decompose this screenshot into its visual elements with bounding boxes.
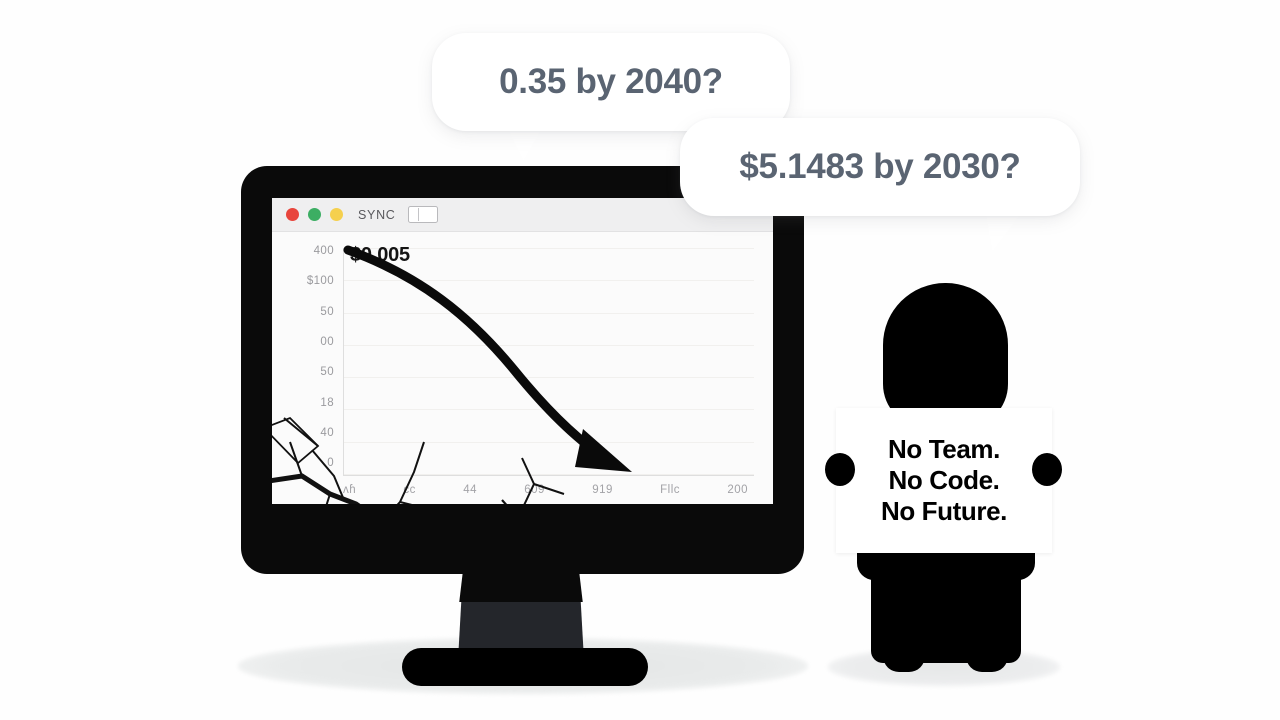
chart-y-axis: 400 $100 50 00 50 18 40 0 (278, 246, 334, 470)
maximize-icon[interactable] (330, 208, 343, 221)
y-tick: 50 (278, 307, 334, 319)
figure-foot-right (966, 638, 1008, 672)
close-icon[interactable] (286, 208, 299, 221)
x-tick: 200 (727, 484, 748, 496)
y-tick: 50 (278, 367, 334, 379)
x-tick: ʌɦ (343, 484, 356, 496)
y-tick: 0 (278, 458, 334, 470)
figure-foot-left (883, 638, 925, 672)
monitor-screen: SYNC 400 $100 50 00 50 18 40 0 (272, 198, 773, 504)
speech-bubble-2: $5.1483 by 2030? (680, 118, 1080, 216)
sidebar-toggle-icon[interactable] (408, 206, 438, 223)
x-tick: 609 (524, 484, 545, 496)
chart-area: 400 $100 50 00 50 18 40 0 (272, 232, 773, 504)
x-tick: 44 (463, 484, 477, 496)
x-tick: ϲϲ (403, 484, 416, 496)
monitor-base (402, 648, 648, 686)
sign-line: No Team. (888, 434, 1000, 465)
chart-downtrend-arrow (340, 246, 690, 476)
y-tick: 40 (278, 428, 334, 440)
minimize-icon[interactable] (308, 208, 321, 221)
figure-hand-right (1032, 453, 1062, 486)
figure-hand-left (825, 453, 855, 486)
monitor-neck-top (458, 570, 584, 602)
y-tick: $100 (278, 276, 334, 288)
y-tick: 400 (278, 246, 334, 258)
y-tick: 00 (278, 337, 334, 349)
speech-bubble-1: 0.35 by 2040? (432, 33, 790, 131)
speech-bubble-1-text: 0.35 by 2040? (499, 62, 723, 102)
chart-x-axis: ʌɦ ϲϲ 44 609 919 Fllc 200 (343, 484, 754, 496)
y-tick: 18 (278, 398, 334, 410)
x-tick: 919 (592, 484, 613, 496)
scene-root: SYNC 400 $100 50 00 50 18 40 0 (0, 0, 1280, 720)
x-tick: Fllc (660, 484, 680, 496)
protest-sign: No Team. No Code. No Future. (836, 408, 1052, 553)
sign-line: No Code. (889, 465, 1000, 496)
hooded-figure: No Team. No Code. No Future. (820, 283, 1070, 673)
sign-line: No Future. (881, 496, 1007, 527)
monitor: SYNC 400 $100 50 00 50 18 40 0 (241, 166, 804, 574)
speech-bubble-2-text: $5.1483 by 2030? (739, 147, 1020, 187)
app-title: SYNC (358, 208, 396, 222)
